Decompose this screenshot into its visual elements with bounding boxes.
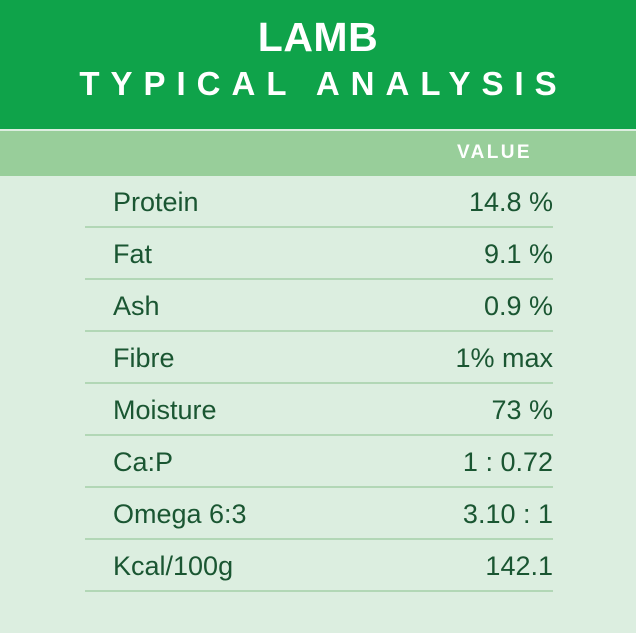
nutrient-label: Ca:P [85, 445, 173, 479]
nutrient-label: Fibre [85, 341, 175, 375]
table-row: Omega 6:3 3.10 : 1 [0, 488, 636, 540]
table-row: Protein 14.8 % [0, 176, 636, 228]
nutrient-value: 3.10 : 1 [463, 497, 553, 531]
page-subtitle: TYPICAL ANALYSIS [0, 64, 636, 104]
column-header-value: VALUE [457, 141, 532, 165]
analysis-table-body: Protein 14.8 % Fat 9.1 % Ash 0.9 % Fibre… [0, 176, 636, 633]
nutrient-label: Omega 6:3 [85, 497, 247, 531]
table-row: Fibre 1% max [0, 332, 636, 384]
nutrient-label: Kcal/100g [85, 549, 233, 583]
nutrient-value: 0.9 % [484, 289, 553, 323]
table-row: Kcal/100g 142.1 [0, 540, 636, 592]
nutrient-label: Protein [85, 185, 199, 219]
nutrient-value: 142.1 [485, 549, 553, 583]
typical-analysis-panel: LAMB TYPICAL ANALYSIS VALUE Protein 14.8… [0, 0, 636, 633]
table-row: Fat 9.1 % [0, 228, 636, 280]
table-column-header: VALUE [0, 131, 636, 176]
table-row: Moisture 73 % [0, 384, 636, 436]
nutrient-value: 73 % [491, 393, 553, 427]
title-band: LAMB TYPICAL ANALYSIS [0, 0, 636, 129]
nutrient-label: Fat [85, 237, 152, 271]
nutrient-value: 1% max [455, 341, 553, 375]
nutrient-value: 14.8 % [469, 185, 553, 219]
nutrient-value: 1 : 0.72 [463, 445, 553, 479]
nutrient-value: 9.1 % [484, 237, 553, 271]
table-row: Ash 0.9 % [0, 280, 636, 332]
page-title: LAMB [0, 14, 636, 60]
row-separator [85, 590, 553, 592]
table-row: Ca:P 1 : 0.72 [0, 436, 636, 488]
nutrient-label: Ash [85, 289, 160, 323]
nutrient-label: Moisture [85, 393, 217, 427]
